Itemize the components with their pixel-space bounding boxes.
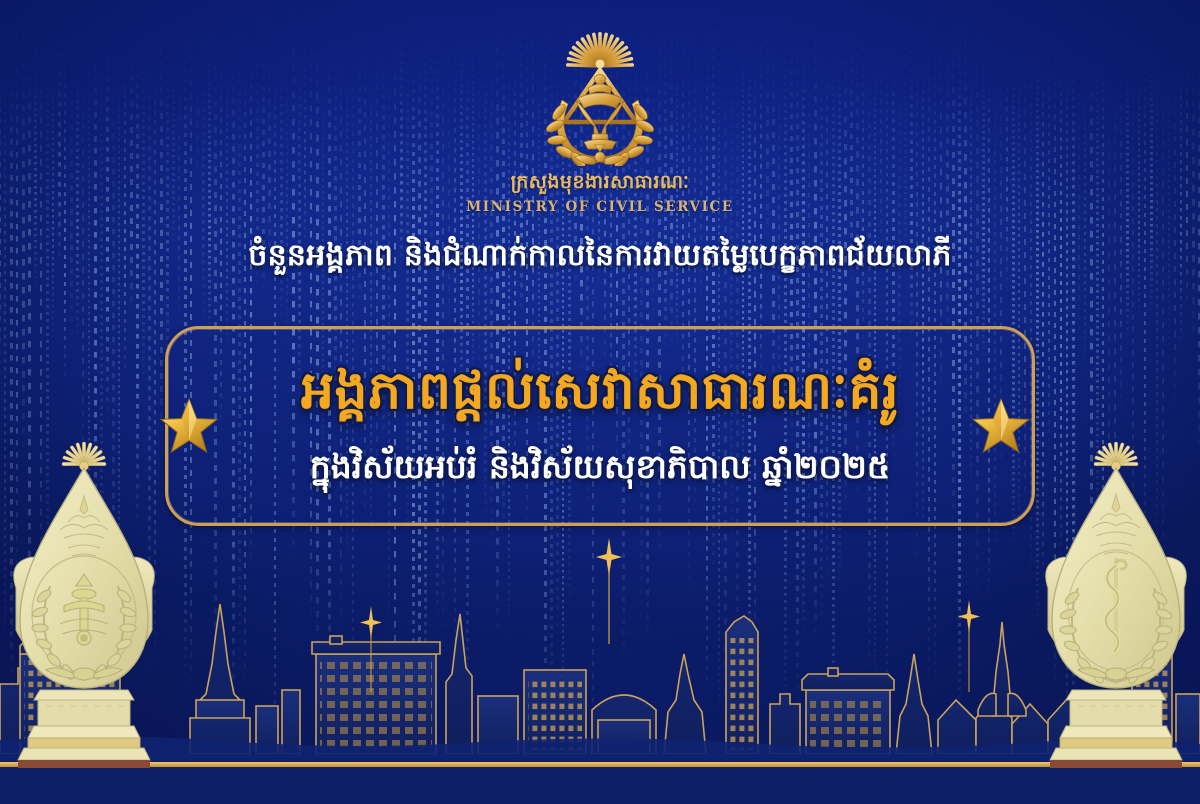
bottom-band bbox=[0, 767, 1200, 804]
poster-canvas: ក្រសួងមុខងារសាធារណៈ MINISTRY OF CIVIL SE… bbox=[0, 0, 1200, 804]
ministry-name-khmer: ក្រសួងមុខងារសាធារណៈ bbox=[0, 170, 1200, 198]
ministry-name-english: MINISTRY OF CIVIL SERVICE bbox=[0, 199, 1200, 215]
poster-main-title: អង្គភាពផ្តល់សេវាសាធារណៈគំរូ bbox=[0, 358, 1200, 434]
poster-top-line: ចំនួនអង្គភាព និងជំណាក់កាលនៃការវាយតម្លៃបេ… bbox=[0, 236, 1200, 280]
royal-cambodia-ministry-crest-icon bbox=[532, 26, 668, 166]
ministry-header: ក្រសួងមុខងារសាធារណៈ MINISTRY OF CIVIL SE… bbox=[0, 26, 1200, 215]
poster-sub-title: ក្នុងវិស័យអប់រំ និងវិស័យសុខាភិបាល ឆ្នាំ២… bbox=[0, 447, 1200, 495]
